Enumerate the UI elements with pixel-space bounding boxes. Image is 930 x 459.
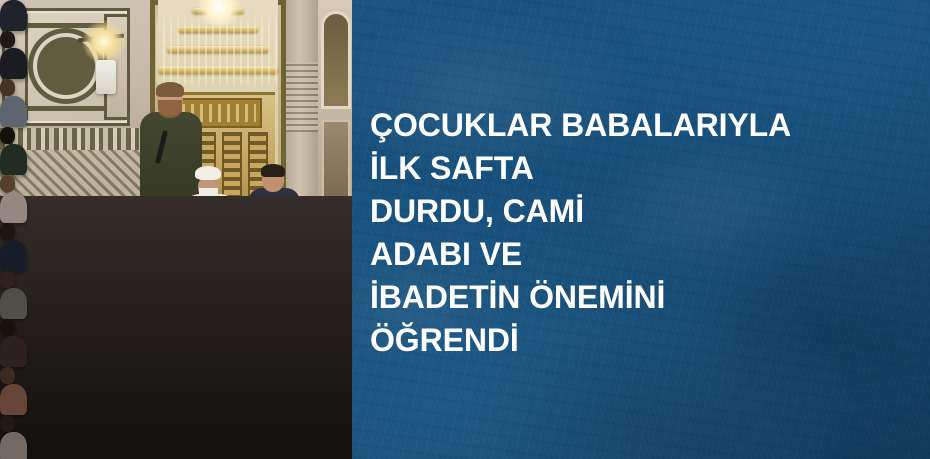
crowd-person-body — [0, 96, 27, 127]
crowd-person-head — [0, 367, 15, 384]
crowd-person-head — [0, 271, 15, 288]
crowd-person-body — [0, 192, 27, 223]
crowd-person-head — [0, 415, 15, 432]
crowd-person-head — [0, 79, 15, 96]
crowd-person-body — [0, 48, 27, 79]
crowd-person-body — [0, 144, 27, 175]
news-thumbnail-card: ÇOCUKLAR BABALARIYLA İLK SAFTA DURDU, CA… — [0, 0, 930, 459]
suited-man-hair — [261, 164, 285, 177]
headline-line-6: ÖĞRENDİ — [370, 319, 910, 362]
arched-niche — [324, 14, 348, 106]
crowd-person-head — [0, 31, 15, 48]
crowd-person-body — [0, 336, 27, 367]
headline-line-5: İBADETİN ÖNEMİNİ — [370, 276, 910, 319]
standing-man-beard — [158, 100, 182, 118]
headline-line-3: DURDU, CAMİ — [370, 190, 910, 233]
crowd-person-head — [0, 319, 15, 336]
crowd-person-body — [0, 432, 27, 459]
headline-text-block: ÇOCUKLAR BABALARIYLA İLK SAFTA DURDU, CA… — [370, 104, 910, 362]
crowd-person-body — [0, 384, 27, 415]
headline-line-2: İLK SAFTA — [370, 147, 910, 190]
crowd-person-body — [0, 288, 27, 319]
crowd-person-head — [0, 223, 15, 240]
headline-line-4: ADABI VE — [370, 233, 910, 276]
headline-line-1: ÇOCUKLAR BABALARIYLA — [370, 104, 910, 147]
standing-man-hair — [156, 82, 184, 97]
headline-panel: ÇOCUKLAR BABALARIYLA İLK SAFTA DURDU, CA… — [352, 0, 930, 459]
hanging-lamp-icon — [82, 20, 126, 64]
imam-turban — [195, 166, 221, 180]
crowd-person-body — [0, 0, 27, 31]
crowd-person-head — [0, 175, 15, 192]
mosque-photo — [0, 0, 352, 459]
wall-speaker — [96, 60, 116, 94]
crowd-person-body — [0, 240, 27, 271]
crowd-person-head — [0, 127, 15, 144]
crowd-figures — [0, 0, 70, 459]
